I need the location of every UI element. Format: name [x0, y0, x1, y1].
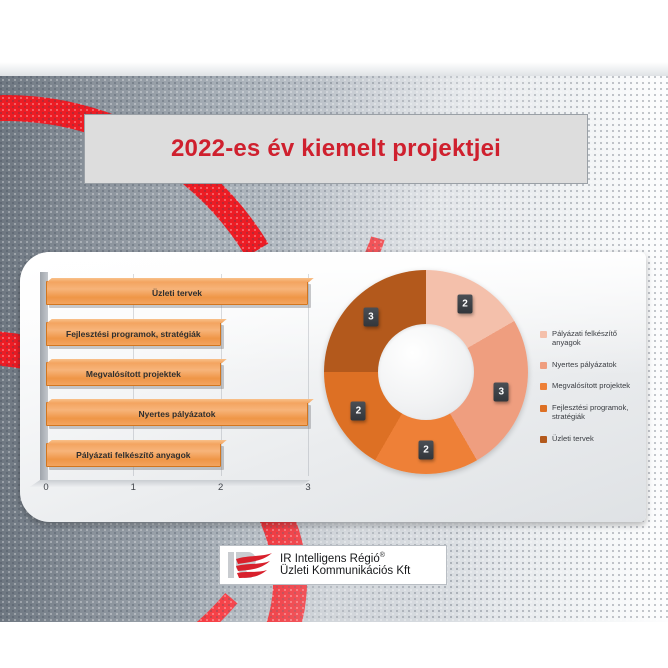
- bar-chart-x-tick-label: 2: [218, 482, 223, 493]
- legend-item-label: Üzleti tervek: [552, 434, 594, 443]
- bar-chart-bar[interactable]: Pályázati felkészítő anyagok: [46, 443, 221, 467]
- bar-chart-bar-top-face: [47, 359, 226, 363]
- bar-chart-bar-top-face: [47, 319, 226, 323]
- legend-item[interactable]: Megvalósított projektek: [540, 381, 644, 390]
- legend-color-swatch-icon: [540, 436, 547, 443]
- doughnut-data-label: 2: [458, 295, 473, 314]
- bar-chart-bar-row: Pályázati felkészítő anyagok: [46, 443, 308, 469]
- bar-chart-bar-label: Fejlesztési programok, stratégiák: [66, 329, 201, 339]
- page-title: 2022-es év kiemelt projektjei: [171, 135, 501, 163]
- registered-trademark-icon: ®: [380, 552, 385, 559]
- bar-chart-bar-top-face: [47, 278, 314, 282]
- bar-chart-bar[interactable]: Megvalósított projektek: [46, 362, 221, 386]
- legend-item[interactable]: Üzleti tervek: [540, 434, 644, 443]
- slide-title-box: 2022-es év kiemelt projektjei: [84, 114, 588, 184]
- legend-item[interactable]: Fejlesztési programok, stratégiák: [540, 403, 644, 422]
- bar-chart: Üzleti tervekFejlesztési programok, stra…: [26, 264, 316, 512]
- company-name-line-2: Üzleti Kommunikációs Kft: [280, 565, 410, 578]
- legend-color-swatch-icon: [540, 362, 547, 369]
- legend-item[interactable]: Pályázati felkészítő anyagok: [540, 329, 644, 348]
- doughnut-data-label: 2: [351, 402, 366, 421]
- bar-chart-bar[interactable]: Nyertes pályázatok: [46, 402, 308, 426]
- slide-background-highlight: [0, 62, 668, 76]
- legend-item-label: Fejlesztési programok, stratégiák: [552, 403, 644, 422]
- ir-monogram-swoosh-logo-icon: [226, 549, 274, 581]
- bar-chart-bar-label: Megvalósított projektek: [86, 369, 181, 379]
- slide-bottom-white-area: [0, 622, 668, 668]
- doughnut-data-label: 3: [494, 383, 509, 402]
- bar-chart-gridline: [308, 274, 309, 476]
- company-logo-footer: IR Intelligens Régió® Üzleti Kommunikáci…: [219, 545, 447, 585]
- doughnut-center-hole: [378, 324, 474, 420]
- legend-item[interactable]: Nyertes pályázatok: [540, 360, 644, 369]
- company-name-line-1: IR Intelligens Régió®: [280, 552, 410, 566]
- bar-chart-bar[interactable]: Üzleti tervek: [46, 281, 308, 305]
- slide-top-white-area: [0, 0, 668, 62]
- bar-chart-bar-row: Megvalósított projektek: [46, 362, 308, 388]
- company-logo-text: IR Intelligens Régió® Üzleti Kommunikáci…: [280, 552, 410, 579]
- doughnut-data-label: 2: [419, 441, 434, 460]
- bar-chart-x-tick-label: 3: [305, 482, 310, 493]
- chart-panel: Üzleti tervekFejlesztési programok, stra…: [20, 252, 646, 522]
- bar-chart-bar-label: Üzleti tervek: [152, 288, 202, 298]
- legend-color-swatch-icon: [540, 383, 547, 390]
- bar-chart-bar[interactable]: Fejlesztési programok, stratégiák: [46, 322, 221, 346]
- bar-chart-x-tick-label: 1: [131, 482, 136, 493]
- bar-chart-bar-row: Üzleti tervek: [46, 281, 308, 307]
- bar-chart-bar-top-face: [47, 440, 226, 444]
- legend-color-swatch-icon: [540, 331, 547, 338]
- bar-chart-bar-label: Nyertes pályázatok: [138, 409, 215, 419]
- legend-item-label: Pályázati felkészítő anyagok: [552, 329, 644, 348]
- legend-item-label: Nyertes pályázatok: [552, 360, 617, 369]
- chart-legend: Pályázati felkészítő anyagokNyertes pály…: [540, 266, 644, 506]
- bar-chart-bar-top-face: [47, 399, 314, 403]
- doughnut-chart: 23223: [322, 264, 534, 512]
- legend-color-swatch-icon: [540, 405, 547, 412]
- bar-chart-bar-row: Fejlesztési programok, stratégiák: [46, 322, 308, 348]
- bar-chart-x-tick-label: 0: [43, 482, 48, 493]
- doughnut-data-label: 3: [363, 307, 378, 326]
- presentation-slide: 2022-es év kiemelt projektjei Üzleti ter…: [0, 0, 668, 668]
- bar-chart-bar-label: Pályázati felkészítő anyagok: [76, 450, 190, 460]
- bar-chart-x-axis-ticks: 0123: [46, 482, 312, 498]
- bar-chart-bar-row: Nyertes pályázatok: [46, 402, 308, 428]
- legend-item-label: Megvalósított projektek: [552, 381, 630, 390]
